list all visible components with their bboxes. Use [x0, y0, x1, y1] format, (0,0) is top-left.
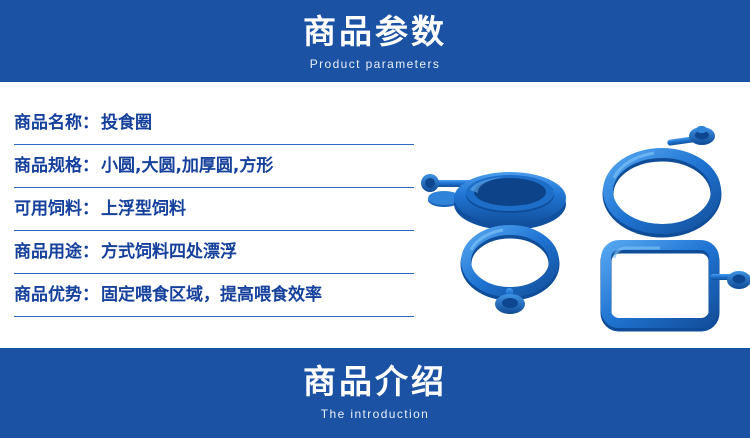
spec-value: 投食圈 [101, 102, 152, 144]
product-parameters-banner: 商品参数 Product parameters [0, 0, 750, 82]
spec-value: 小圆,大圆,加厚圆,方形 [101, 145, 273, 187]
spec-value: 固定喂食区域，提高喂食效率 [101, 274, 322, 316]
product-introduction-title-en: The introduction [0, 404, 750, 424]
spec-label: 商品用途： [14, 231, 99, 273]
spec-label: 可用饲料： [14, 188, 99, 230]
product-parameters-title-en: Product parameters [0, 54, 750, 74]
spec-table: 商品名称：投食圈 商品规格：小圆,大圆,加厚圆,方形 可用饲料：上浮型饲料 商品… [14, 102, 414, 317]
spec-row-usage: 商品用途：方式饲料四处漂浮 [14, 231, 414, 274]
spec-row-specification: 商品规格：小圆,大圆,加厚圆,方形 [14, 145, 414, 188]
spec-label: 商品优势： [14, 274, 99, 316]
product-parameters-page: 商品参数 Product parameters 商品名称：投食圈 商品规格：小圆… [0, 0, 750, 438]
spec-value: 方式饲料四处漂浮 [101, 231, 237, 273]
spec-row-name: 商品名称：投食圈 [14, 102, 414, 145]
spec-value: 上浮型饲料 [101, 188, 186, 230]
spec-label: 商品名称： [14, 102, 99, 144]
product-introduction-banner: 商品介绍 The introduction [0, 348, 750, 438]
spec-row-feed-type: 可用饲料：上浮型饲料 [14, 188, 414, 231]
product-introduction-title-cn: 商品介绍 [0, 362, 750, 402]
product-photo [414, 82, 750, 348]
content-area: 商品名称：投食圈 商品规格：小圆,大圆,加厚圆,方形 可用饲料：上浮型饲料 商品… [0, 82, 750, 348]
spec-label: 商品规格： [14, 145, 99, 187]
product-parameters-title-cn: 商品参数 [0, 12, 750, 52]
spec-row-advantage: 商品优势：固定喂食区域，提高喂食效率 [14, 274, 414, 317]
